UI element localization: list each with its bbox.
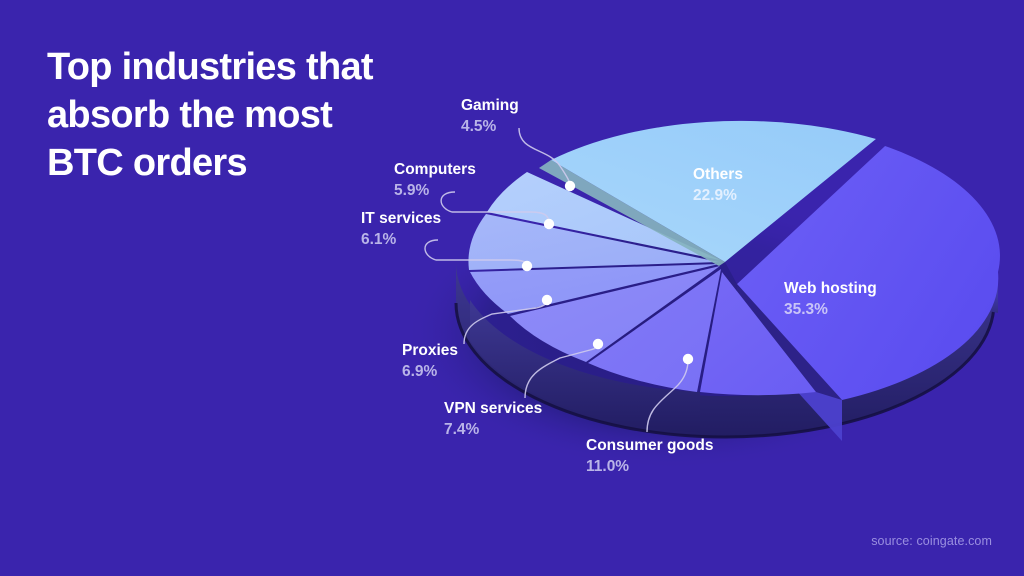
leader-dot-consumer-goods: [683, 354, 693, 364]
leader-dot-gaming: [565, 181, 575, 191]
callout-it-services-name: IT services: [361, 210, 441, 227]
inpie-web-hosting-pct: 35.3%: [784, 300, 877, 321]
callout-vpn-services-pct: 7.4%: [444, 420, 542, 441]
leader-dot-computers: [544, 219, 554, 229]
callout-gaming-name: Gaming: [461, 97, 519, 114]
inpie-others-pct: 22.9%: [693, 186, 743, 207]
leader-dot-it-services: [522, 261, 532, 271]
callout-proxies-pct: 6.9%: [402, 362, 458, 383]
inpie-web-hosting-name: Web hosting: [784, 280, 877, 297]
infographic-canvas: Top industries that absorb the most BTC …: [0, 0, 1024, 576]
inpie-others-name: Others: [693, 166, 743, 183]
pie-chart: Gaming 4.5% Computers 5.9% IT services 6…: [0, 0, 1024, 576]
callout-it-services-pct: 6.1%: [361, 230, 441, 251]
callout-consumer-goods-pct: 11.0%: [586, 457, 713, 478]
callout-computers-pct: 5.9%: [394, 181, 476, 202]
callout-computers: Computers 5.9%: [394, 160, 476, 201]
source-attribution: source: coingate.com: [871, 534, 992, 548]
callout-gaming: Gaming 4.5%: [461, 96, 519, 137]
inpie-label-others: Others 22.9%: [693, 165, 743, 206]
callout-gaming-pct: 4.5%: [461, 117, 519, 138]
callout-vpn-services: VPN services 7.4%: [444, 399, 542, 440]
leader-dot-proxies: [542, 295, 552, 305]
callout-it-services: IT services 6.1%: [361, 209, 441, 250]
callout-consumer-goods-name: Consumer goods: [586, 437, 713, 454]
callout-vpn-services-name: VPN services: [444, 400, 542, 417]
callout-proxies: Proxies 6.9%: [402, 341, 458, 382]
callout-computers-name: Computers: [394, 161, 476, 178]
callout-consumer-goods: Consumer goods 11.0%: [586, 436, 713, 477]
inpie-label-web-hosting: Web hosting 35.3%: [784, 279, 877, 320]
callout-proxies-name: Proxies: [402, 342, 458, 359]
leader-dot-vpn-services: [593, 339, 603, 349]
